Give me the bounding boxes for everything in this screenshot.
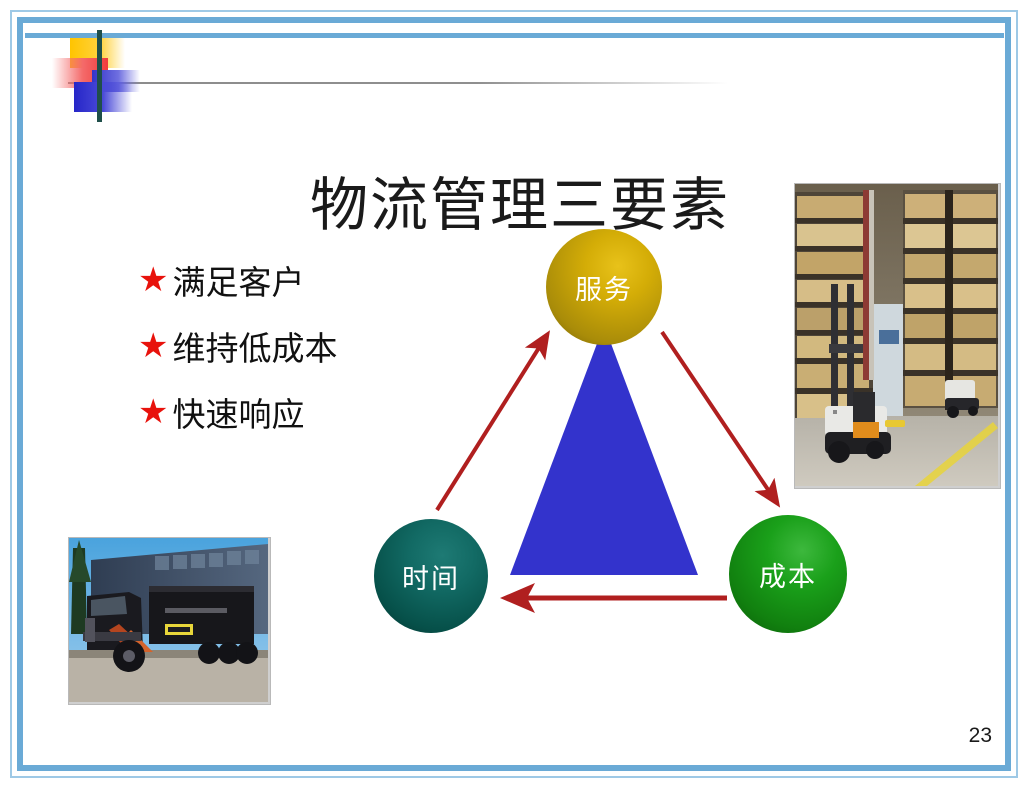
star-icon: ★ (138, 329, 168, 363)
node-service[interactable]: 服务 (546, 229, 662, 345)
list-item-label: 满足客户 (172, 256, 304, 304)
header-gray-rule (68, 82, 728, 84)
logo-blue-block-lower (74, 82, 132, 112)
triangle-shape (510, 325, 698, 575)
star-icon: ★ (138, 263, 168, 297)
list-item-label: 快速响应 (172, 388, 304, 436)
arrow-time-to-service (437, 335, 547, 510)
header-blue-rule (25, 33, 1004, 38)
page-number: 23 (969, 724, 992, 748)
truck-photo-art (69, 538, 268, 702)
node-service-label: 服务 (575, 268, 633, 307)
logo-vertical-line (97, 30, 102, 122)
star-icon: ★ (138, 395, 168, 429)
decorative-logo-mark (52, 30, 147, 122)
warehouse-photo-art (795, 184, 998, 486)
node-time[interactable]: 时间 (374, 519, 488, 633)
list-item-label: 维持低成本 (172, 322, 337, 370)
arrow-service-to-cost (662, 332, 777, 503)
truck-photo (68, 537, 271, 705)
slide-canvas: 物流管理三要素 ★ 满足客户 ★ 维持低成本 ★ 快速响应 (0, 0, 1030, 790)
node-cost-label: 成本 (759, 555, 817, 594)
node-cost[interactable]: 成本 (729, 515, 847, 633)
node-time-label: 时间 (402, 557, 460, 596)
warehouse-photo (794, 183, 1001, 489)
